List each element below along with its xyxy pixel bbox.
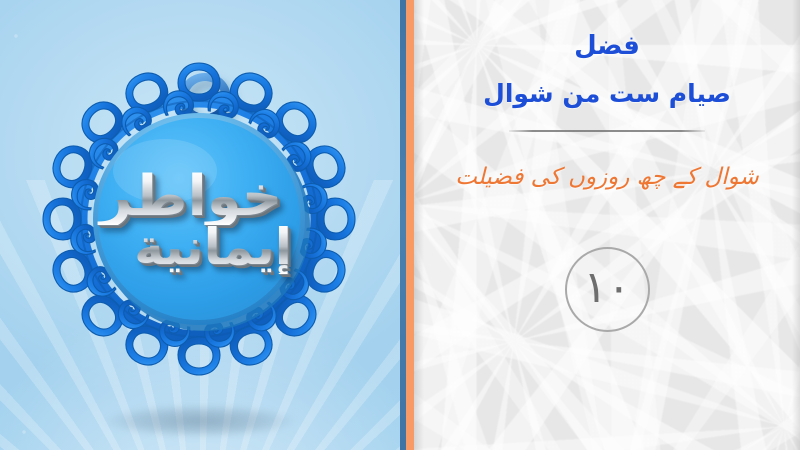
title-block: فضل صيام ست من شوال شوال کے چھ روزوں کی … [414,0,800,450]
right-title-panel: فضل صيام ست من شوال شوال کے چھ روزوں کی … [414,0,800,450]
logo-ground-shadow [65,398,335,444]
divider-stripe-orange [406,0,414,450]
left-logo-panel: خواطر إيمانية [0,0,400,450]
episode-number-value: ١٠ [583,266,630,310]
urdu-subtitle: شوال کے چھ روزوں کی فضیلت [440,162,774,193]
arabic-title-line-2: صيام ست من شوال [440,80,774,109]
title-card: خواطر إيمانية فضل صيام ست من شوال شوال ک… [0,0,800,450]
arabic-title-line-1: فضل [440,32,774,61]
program-logo: خواطر إيمانية [35,49,365,389]
episode-number-badge: ١٠ [565,247,650,332]
title-divider-rule [509,130,705,132]
